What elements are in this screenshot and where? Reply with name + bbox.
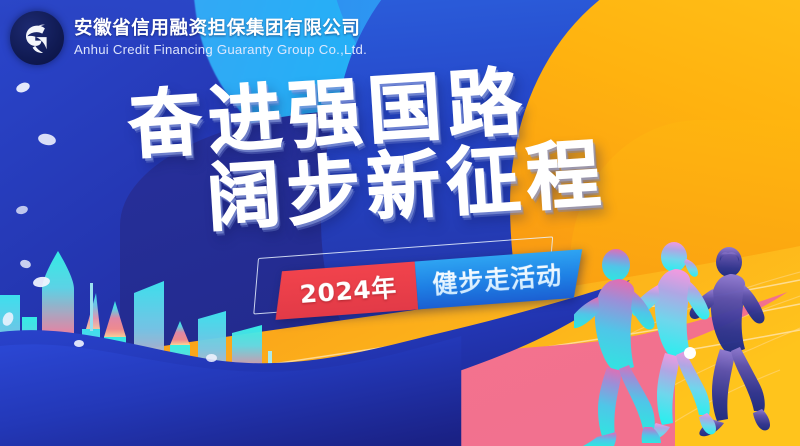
company-name-cn: 安徽省信用融资担保集团有限公司	[74, 19, 367, 40]
particle-dot	[206, 354, 217, 362]
brand-header: 安徽省信用融资担保集团有限公司 Anhui Credit Financing G…	[10, 11, 367, 65]
particle-dot	[15, 81, 31, 95]
particle-dot	[32, 276, 50, 289]
particle-dot	[1, 311, 16, 328]
particle-dot	[74, 340, 84, 347]
g-glyph-icon	[16, 17, 58, 59]
promotional-banner: 安徽省信用融资担保集团有限公司 Anhui Credit Financing G…	[0, 0, 800, 446]
particle-dot	[15, 205, 29, 216]
particle-dot	[37, 132, 57, 147]
title-line-2: 阔步新征程	[205, 139, 609, 235]
main-title: 奋进强国路 阔步新征程	[126, 62, 608, 240]
brand-text-block: 安徽省信用融资担保集团有限公司 Anhui Credit Financing G…	[74, 18, 367, 58]
highlight-dot-icon	[684, 347, 696, 359]
runner-silhouettes	[574, 231, 800, 446]
company-name-en: Anhui Credit Financing Guaranty Group Co…	[74, 43, 367, 58]
particle-dot	[19, 258, 32, 269]
company-g-logo-icon	[10, 11, 64, 65]
runners-icon	[574, 231, 800, 446]
runner-left	[574, 249, 661, 446]
subtitle-year-label: 2024年	[298, 268, 397, 311]
subtitle-event-label: 健步走活动	[431, 256, 563, 301]
